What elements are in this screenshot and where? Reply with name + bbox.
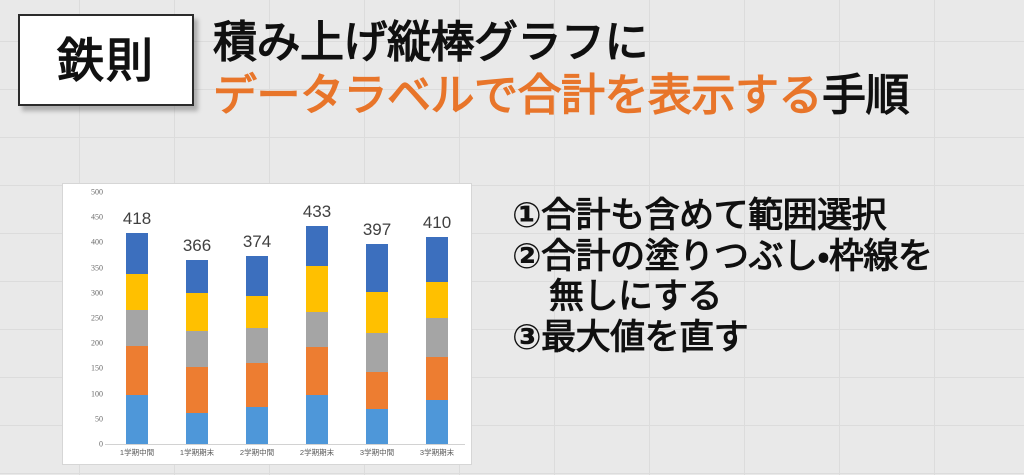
chart-total-label: 433	[303, 202, 331, 222]
steps-list: ①合計も含めて範囲選択②合計の塗りつぶし・枠線を無しにする③最大値を直す	[512, 196, 1017, 358]
chart-bar-segment-series-5	[246, 256, 268, 296]
chart-total-label: 366	[183, 236, 211, 256]
chart-bar-segment-series-5	[366, 244, 388, 292]
x-axis-tick: 1学期中間	[107, 447, 167, 458]
chart-bar-segment-series-4	[246, 296, 268, 328]
title-accent-text: データラベルで合計を表示する	[213, 71, 822, 120]
title-block: 積み上げ縦棒グラフに データラベルで合計を表示する手順	[213, 18, 1023, 121]
x-axis-tick: 3学期期末	[407, 447, 467, 458]
chart-bar-segment-series-3	[186, 331, 208, 368]
slide-canvas: 鉄則 積み上げ縦棒グラフに データラベルで合計を表示する手順 500450400…	[0, 0, 1024, 475]
step-item-3: 無しにする	[512, 277, 1017, 318]
chart-bar-segment-series-2	[366, 372, 388, 408]
chart-bar-group: 410	[407, 192, 467, 444]
chart-bar-stack	[126, 233, 148, 444]
chart-bar-segment-series-2	[246, 363, 268, 407]
chart-bar-group: 397	[347, 192, 407, 444]
chart-bar-group: 418	[107, 192, 167, 444]
y-axis-tick: 300	[91, 288, 103, 297]
y-axis-tick: 150	[91, 364, 103, 373]
y-axis-tick: 0	[99, 440, 103, 449]
rule-badge: 鉄則	[18, 14, 194, 106]
y-axis-tick: 450	[91, 213, 103, 222]
y-axis-tick: 50	[95, 414, 103, 423]
chart-bar-segment-series-2	[126, 346, 148, 395]
chart-bar-segment-series-5	[186, 260, 208, 293]
x-axis-tick: 1学期期末	[167, 447, 227, 458]
step-item-4: ③最大値を直す	[512, 318, 1017, 359]
chart-bar-stack	[306, 226, 328, 444]
chart-x-axis: 1学期中間1学期期末2学期中間2学期期末3学期中間3学期期末	[107, 447, 465, 465]
chart-total-label: 374	[243, 232, 271, 252]
chart-bar-segment-series-2	[426, 357, 448, 400]
chart-y-axis: 500450400350300250200150100500	[69, 192, 103, 444]
chart-bar-segment-series-3	[246, 328, 268, 363]
chart-bar-segment-series-3	[366, 333, 388, 372]
chart-bar-segment-series-2	[306, 347, 328, 394]
y-axis-tick: 350	[91, 263, 103, 272]
chart-bar-segment-series-4	[366, 292, 388, 333]
chart-plot: 500450400350300250200150100500 418366374…	[63, 184, 471, 464]
chart-bar-segment-series-2	[186, 367, 208, 412]
chart-bar-group: 374	[227, 192, 287, 444]
chart-bar-segment-series-3	[426, 318, 448, 357]
chart-bar-segment-series-5	[306, 226, 328, 266]
chart-bar-segment-series-4	[186, 293, 208, 331]
chart-bar-segment-series-1	[366, 409, 388, 444]
chart-bar-stack	[366, 244, 388, 444]
chart-total-label: 418	[123, 209, 151, 229]
chart-bar-segment-series-4	[126, 274, 148, 311]
y-axis-tick: 200	[91, 339, 103, 348]
chart-bars-area: 418366374433397410	[107, 192, 465, 444]
chart-bar-stack	[426, 237, 448, 444]
chart-bar-group: 366	[167, 192, 227, 444]
title-line-1: 積み上げ縦棒グラフに	[213, 18, 1023, 67]
y-axis-tick: 500	[91, 188, 103, 197]
chart-bar-segment-series-1	[126, 395, 148, 444]
chart-bar-segment-series-1	[426, 400, 448, 444]
step-item-2: ②合計の塗りつぶし・枠線を	[512, 237, 1017, 278]
chart-bar-segment-series-1	[246, 407, 268, 444]
title-plain-text: 手順	[822, 71, 909, 120]
chart-panel: 500450400350300250200150100500 418366374…	[62, 183, 472, 465]
chart-bar-segment-series-5	[126, 233, 148, 273]
chart-bar-segment-series-3	[306, 312, 328, 347]
y-axis-tick: 250	[91, 314, 103, 323]
chart-total-label: 397	[363, 220, 391, 240]
y-axis-tick: 100	[91, 389, 103, 398]
chart-bar-group: 433	[287, 192, 347, 444]
title-line-2: データラベルで合計を表示する手順	[213, 71, 1023, 120]
chart-bar-stack	[246, 256, 268, 444]
rule-badge-label: 鉄則	[57, 37, 155, 84]
chart-bar-segment-series-3	[126, 310, 148, 345]
chart-bar-segment-series-1	[306, 395, 328, 444]
step-item-1: ①合計も含めて範囲選択	[512, 196, 1017, 237]
chart-bar-segment-series-1	[186, 413, 208, 444]
x-axis-tick: 2学期期末	[287, 447, 347, 458]
x-axis-tick: 2学期中間	[227, 447, 287, 458]
chart-bar-segment-series-5	[426, 237, 448, 282]
chart-bar-segment-series-4	[426, 282, 448, 318]
chart-bar-segment-series-4	[306, 266, 328, 312]
chart-total-label: 410	[423, 213, 451, 233]
x-axis-tick: 3学期中間	[347, 447, 407, 458]
chart-baseline	[105, 444, 465, 445]
y-axis-tick: 400	[91, 238, 103, 247]
chart-bar-stack	[186, 260, 208, 444]
